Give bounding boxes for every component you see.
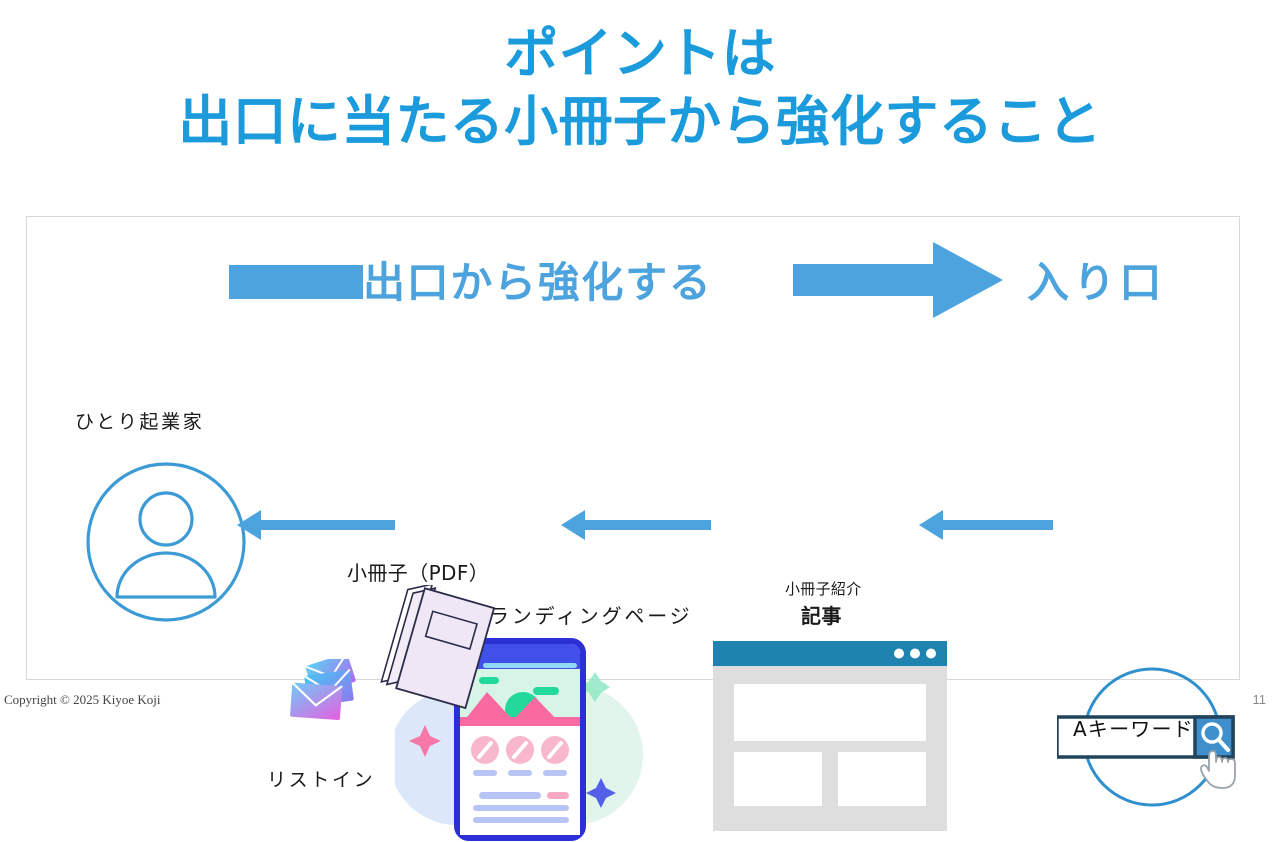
envelopes-icon (285, 659, 369, 731)
search-query-text[interactable]: Aキーワード (1073, 713, 1194, 742)
slide-canvas: ポイントは 出口に当たる小冊子から強化すること 出口から強化する 入り口 ひとり… (0, 0, 1280, 720)
arrow-lp-to-person (235, 507, 395, 543)
right-arrow-icon (793, 242, 1003, 318)
booklet-label: 小冊子（PDF） (347, 557, 489, 586)
booklet-icon (379, 585, 503, 711)
arrow-article-to-lp (559, 507, 711, 543)
footer-page-number: 11 (1253, 692, 1267, 707)
direction-banner: 出口から強化する 入り口 (27, 217, 1241, 327)
landing-page-label: ランディングページ (489, 600, 692, 629)
page-title-line1: ポイントは (0, 22, 1280, 86)
page-title-line2: 出口に当たる小冊子から強化すること (0, 90, 1280, 154)
content-frame: 出口から強化する 入り口 ひとり起業家 (26, 216, 1240, 680)
page-title: ポイントは 出口に当たる小冊子から強化すること (0, 22, 1280, 153)
article-label-main: 記事 (801, 600, 842, 629)
article-label-top: 小冊子紹介 (785, 578, 862, 599)
arrow-search-to-article (917, 507, 1053, 543)
browser-window-icon (713, 641, 947, 831)
direction-banner-label: 出口から強化する (363, 249, 712, 310)
entry-point-label: 入り口 (1027, 249, 1166, 310)
person-label: ひとり起業家 (75, 407, 204, 434)
footer-copyright: Copyright © 2025 Kiyoe Koji (4, 692, 160, 708)
person-circle-icon (71, 457, 261, 627)
list-in-label: リストイン (267, 765, 375, 792)
left-bar (229, 265, 363, 299)
